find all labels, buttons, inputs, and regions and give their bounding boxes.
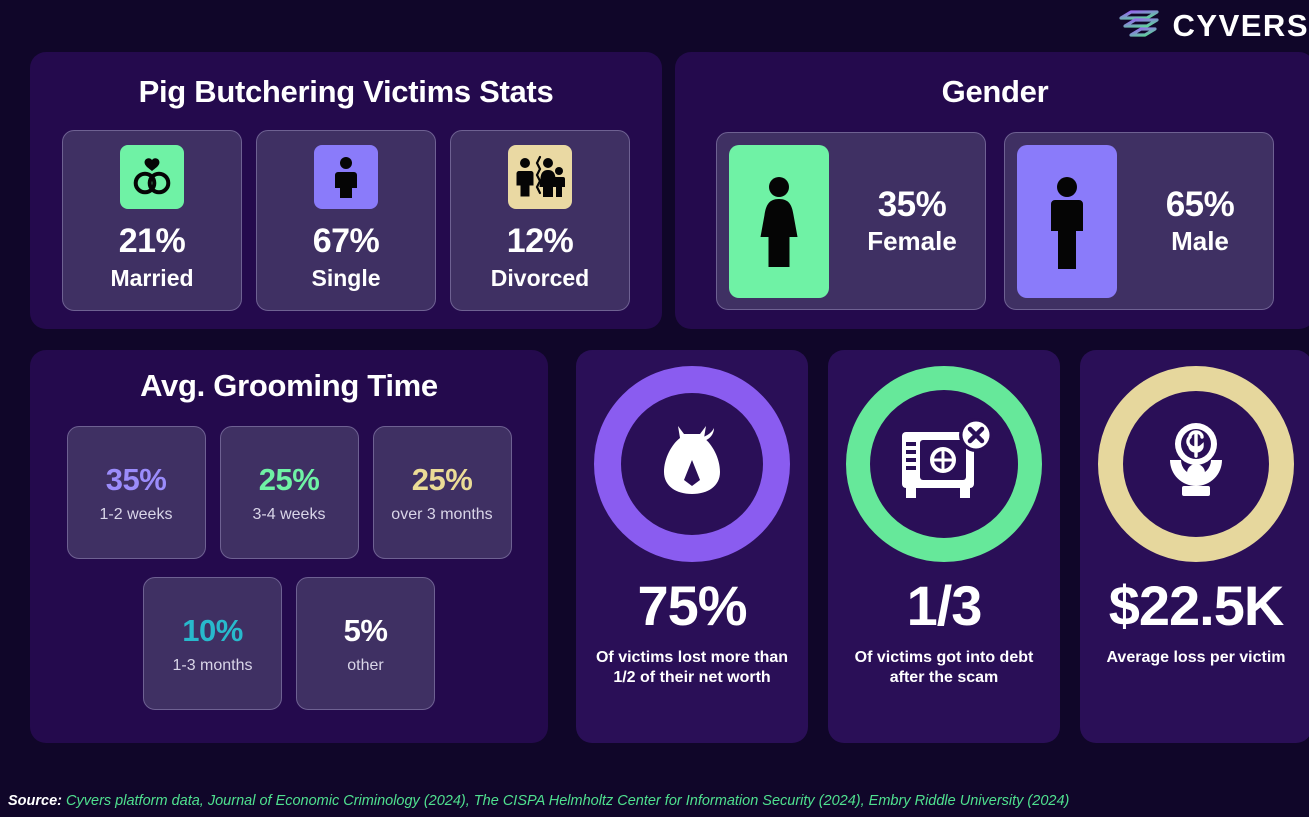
dollar-coin-loss-icon [1148,416,1244,512]
gender-title: Gender [675,74,1309,110]
gender-card-female[interactable]: 35% Female [716,132,986,310]
gender-label: Female [839,226,985,257]
wedding-rings-heart-icon [130,155,174,199]
stat-label: Divorced [491,265,589,292]
grooming-percent: 10% [182,613,243,649]
grooming-percent: 35% [106,462,167,498]
victims-stats-title: Pig Butchering Victims Stats [30,74,662,110]
grooming-time-title: Avg. Grooming Time [30,368,548,404]
stat-card-single[interactable]: 67% Single [256,130,436,311]
grooming-percent: 25% [412,462,473,498]
stat-percent: 12% [507,222,574,261]
source-label: Source: [8,793,62,809]
circle-caption: Average loss per victim [1092,648,1299,668]
stat-percent: 67% [313,222,380,261]
grooming-card-over-3-months[interactable]: 25% over 3 months [373,426,512,559]
stat-label: Single [311,265,380,292]
gender-percent: 65% [1127,185,1273,225]
cyvers-chevron-logo-icon [1117,9,1161,43]
infographic-page: CYVERS Pig Butchering Victims Stats 21% … [0,0,1309,817]
circle-caption: Of victims lost more than 1/2 of their n… [576,648,808,688]
single-person-icon [325,154,367,200]
gender-panel: Gender 35% Female [675,52,1309,329]
circle-caption: Of victims got into debt after the scam [828,648,1060,688]
brand-logo: CYVERS [1117,8,1309,44]
victims-stats-row: 21% Married 67% Single [30,130,662,311]
circle-card-debt[interactable]: 1/3 Of victims got into debt after the s… [828,350,1060,743]
circle-value: 1/3 [907,578,982,634]
stat-card-divorced[interactable]: 12% Divorced [450,130,630,311]
male-figure-icon [1041,173,1093,269]
grooming-label: 1-2 weeks [100,506,173,524]
grooming-card-other[interactable]: 5% other [296,577,435,710]
grooming-label: other [347,657,383,675]
grooming-time-panel: Avg. Grooming Time 35% 1-2 weeks 25% 3-4… [30,350,548,743]
stat-percent: 21% [119,222,186,261]
circle-value: $22.5K [1109,578,1284,634]
female-figure-icon [750,173,808,269]
brand-name: CYVERS [1173,8,1309,44]
circle-card-average-loss[interactable]: $22.5K Average loss per victim [1080,350,1309,743]
wedding-rings-heart-icon-tile [120,145,184,209]
gender-text-female: 35% Female [839,185,985,257]
dollar-coin-ring [1098,366,1294,562]
money-bag-icon [644,416,740,512]
divorced-family-split-icon [515,154,565,200]
circle-card-net-worth-loss[interactable]: 75% Of victims lost more than 1/2 of the… [576,350,808,743]
grooming-card-3-4-weeks[interactable]: 25% 3-4 weeks [220,426,359,559]
grooming-label: 1-3 months [172,657,252,675]
safe-vault-ring [846,366,1042,562]
male-figure-icon-tile [1017,145,1117,298]
grooming-percent: 5% [344,613,388,649]
stat-label: Married [110,265,193,292]
grooming-card-1-3-months[interactable]: 10% 1-3 months [143,577,282,710]
grooming-percent: 25% [259,462,320,498]
female-figure-icon-tile [729,145,829,298]
grooming-row-2: 10% 1-3 months 5% other [30,577,548,710]
victims-stats-panel: Pig Butchering Victims Stats 21% Married [30,52,662,329]
circle-value: 75% [637,578,746,634]
gender-card-male[interactable]: 65% Male [1004,132,1274,310]
divorced-family-split-icon-tile [508,145,572,209]
gender-row: 35% Female 65% Male [675,132,1309,310]
safe-vault-error-icon [894,416,994,512]
source-footer: Source: Cyvers platform data, Journal of… [8,793,1069,809]
gender-label: Male [1127,226,1273,257]
grooming-card-1-2-weeks[interactable]: 35% 1-2 weeks [67,426,206,559]
grooming-label: 3-4 weeks [253,506,326,524]
grooming-row-1: 35% 1-2 weeks 25% 3-4 weeks 25% over 3 m… [30,426,548,559]
grooming-label: over 3 months [391,506,492,524]
single-person-icon-tile [314,145,378,209]
money-bag-ring [594,366,790,562]
gender-percent: 35% [839,185,985,225]
gender-text-male: 65% Male [1127,185,1273,257]
stat-card-married[interactable]: 21% Married [62,130,242,311]
source-list: Cyvers platform data, Journal of Economi… [66,793,1069,809]
